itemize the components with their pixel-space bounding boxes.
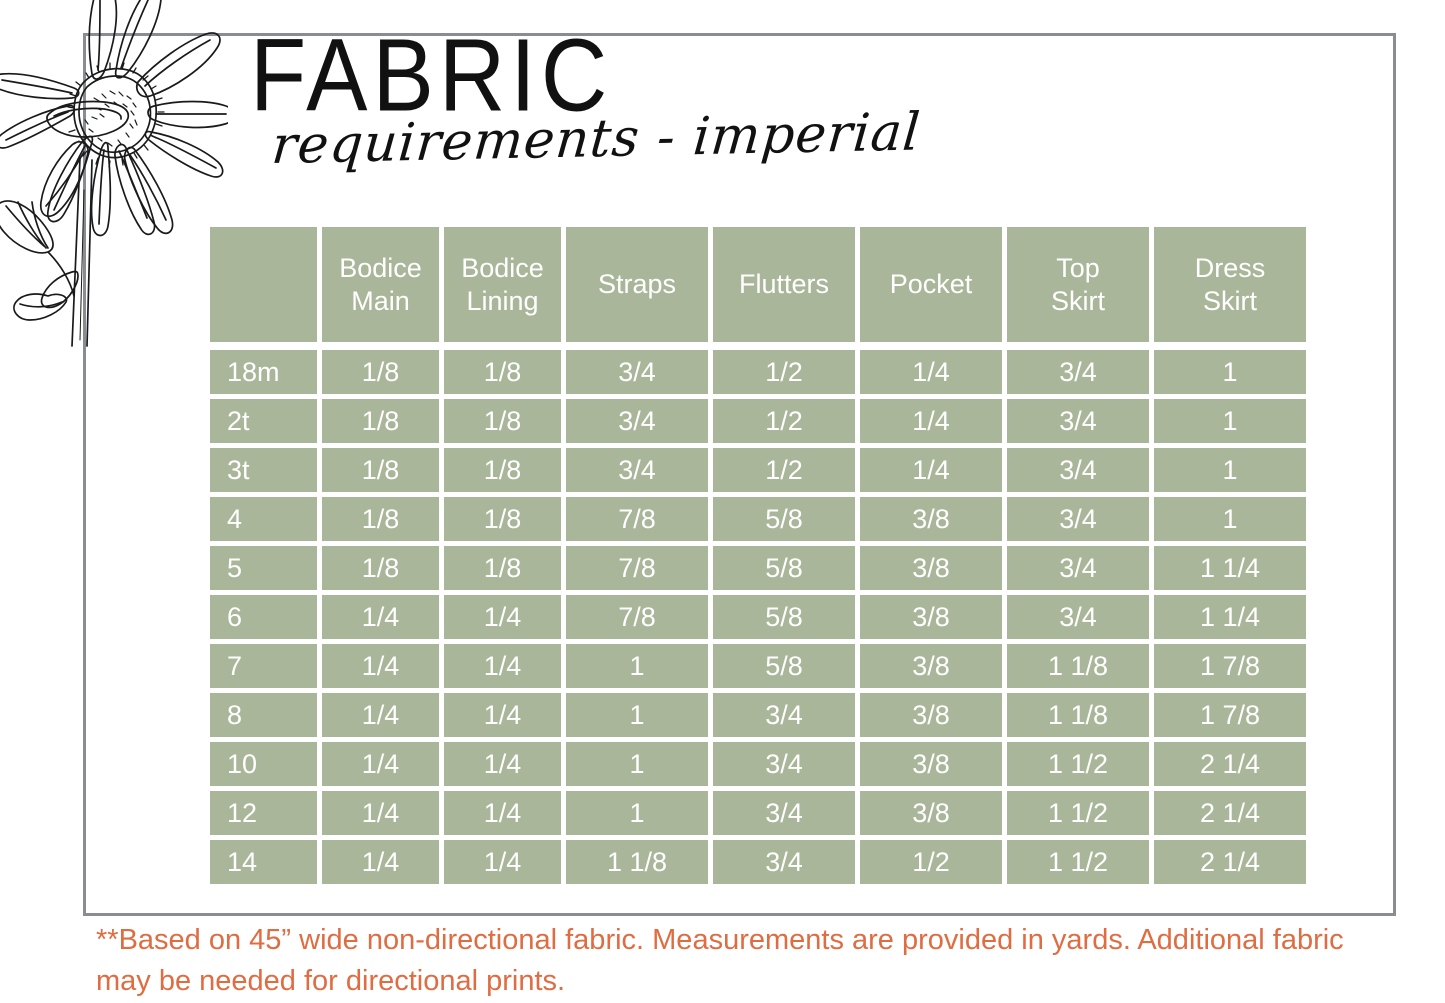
table-cell: 5/8: [713, 497, 855, 541]
table-cell: 3/4: [566, 399, 708, 443]
table-row: 2t1/81/83/41/21/43/41: [210, 399, 1336, 443]
table-cell: 3/4: [713, 791, 855, 835]
table-cell: 1/4: [444, 791, 561, 835]
table-cell: 1/4: [444, 644, 561, 688]
table-cell: 3/4: [566, 448, 708, 492]
table-cell: 1/8: [322, 448, 439, 492]
table-cell: 1 1/2: [1007, 791, 1149, 835]
table-row: 3t1/81/83/41/21/43/41: [210, 448, 1336, 492]
table-row: 41/81/87/85/83/83/41: [210, 497, 1336, 541]
table-cell: 1/4: [444, 693, 561, 737]
table-cell: 3/4: [713, 693, 855, 737]
table-cell: 2 1/4: [1154, 742, 1306, 786]
table-cell: 1/4: [444, 595, 561, 639]
table-cell: 1 1/8: [1007, 644, 1149, 688]
table-cell: 2 1/4: [1154, 791, 1306, 835]
table-cell: 3/4: [713, 840, 855, 884]
table-cell: 1 1/2: [1007, 742, 1149, 786]
table-cell: 1/4: [860, 448, 1002, 492]
table-cell: 1/8: [444, 399, 561, 443]
table-cell: 1 1/2: [1007, 840, 1149, 884]
table-cell: 1 1/8: [566, 840, 708, 884]
table-row: 101/41/413/43/81 1/22 1/4: [210, 742, 1336, 786]
table-cell: 1: [1154, 448, 1306, 492]
table-cell: 1/2: [860, 840, 1002, 884]
table-cell: 1/8: [322, 399, 439, 443]
row-size-label: 14: [210, 840, 317, 884]
table-cell: 1: [566, 693, 708, 737]
table-header-row: Bodice MainBodice LiningStrapsFluttersPo…: [210, 227, 1336, 342]
table-cell: 1: [1154, 350, 1306, 394]
table-cell: 1 1/8: [1007, 693, 1149, 737]
table-cell: 1/4: [444, 840, 561, 884]
table-row: 18m1/81/83/41/21/43/41: [210, 350, 1336, 394]
table-cell: 3/8: [860, 742, 1002, 786]
table-cell: 1/8: [444, 448, 561, 492]
page-subtitle: requirements - imperial: [270, 104, 923, 174]
table-cell: 5/8: [713, 595, 855, 639]
table-cell: 3/4: [1007, 448, 1149, 492]
table-cell: 1/8: [444, 350, 561, 394]
table-row: 141/41/41 1/83/41/21 1/22 1/4: [210, 840, 1336, 884]
row-size-label: 2t: [210, 399, 317, 443]
table-cell: 3/8: [860, 595, 1002, 639]
table-cell: 1 7/8: [1154, 693, 1306, 737]
table-row: 61/41/47/85/83/83/41 1/4: [210, 595, 1336, 639]
row-size-label: 10: [210, 742, 317, 786]
header-cell-top-skirt: Top Skirt: [1007, 227, 1149, 342]
table-cell: 1: [566, 791, 708, 835]
header-cell-dress-skirt: Dress Skirt: [1154, 227, 1306, 342]
table-cell: 1/4: [444, 742, 561, 786]
row-size-label: 8: [210, 693, 317, 737]
table-cell: 7/8: [566, 595, 708, 639]
table-cell: 3/8: [860, 497, 1002, 541]
table-cell: 1/4: [322, 791, 439, 835]
fabric-requirements-page: FABRIC requirements - imperial Bodice Ma…: [0, 0, 1445, 1003]
table-row: 121/41/413/43/81 1/22 1/4: [210, 791, 1336, 835]
table-cell: 1/8: [444, 546, 561, 590]
table-cell: 3/8: [860, 644, 1002, 688]
footnote-note: **Based on 45” wide non-directional fabr…: [96, 920, 1396, 1002]
table-cell: 1/4: [322, 595, 439, 639]
row-size-label: 7: [210, 644, 317, 688]
header-cell-bodice-main: Bodice Main: [322, 227, 439, 342]
header-cell-straps: Straps: [566, 227, 708, 342]
table-row: 51/81/87/85/83/83/41 1/4: [210, 546, 1336, 590]
table-cell: 3/4: [1007, 595, 1149, 639]
table-cell: 5/8: [713, 644, 855, 688]
table-cell: 3/4: [1007, 546, 1149, 590]
fabric-requirements-table: Bodice MainBodice LiningStrapsFluttersPo…: [210, 227, 1336, 889]
table-row: 71/41/415/83/81 1/81 7/8: [210, 644, 1336, 688]
table-cell: 1/4: [322, 693, 439, 737]
table-cell: 3/4: [566, 350, 708, 394]
table-cell: 1/8: [322, 546, 439, 590]
table-cell: 1/4: [322, 644, 439, 688]
table-cell: 1: [1154, 399, 1306, 443]
table-cell: 1/2: [713, 350, 855, 394]
header-cell-size: [210, 227, 317, 342]
table-cell: 7/8: [566, 497, 708, 541]
table-cell: 1: [566, 644, 708, 688]
table-cell: 2 1/4: [1154, 840, 1306, 884]
table-cell: 1/4: [322, 742, 439, 786]
table-cell: 1/8: [322, 497, 439, 541]
header-cell-pocket: Pocket: [860, 227, 1002, 342]
table-cell: 7/8: [566, 546, 708, 590]
header-cell-flutters: Flutters: [713, 227, 855, 342]
table-cell: 3/4: [1007, 399, 1149, 443]
table-cell: 1 1/4: [1154, 595, 1306, 639]
row-size-label: 4: [210, 497, 317, 541]
table-cell: 1 7/8: [1154, 644, 1306, 688]
table-cell: 3/4: [1007, 350, 1149, 394]
table-cell: 5/8: [713, 546, 855, 590]
table-cell: 3/4: [713, 742, 855, 786]
table-cell: 3/8: [860, 546, 1002, 590]
table-cell: 1/2: [713, 399, 855, 443]
table-row: 81/41/413/43/81 1/81 7/8: [210, 693, 1336, 737]
table-cell: 1: [1154, 497, 1306, 541]
table-cell: 1/2: [713, 448, 855, 492]
table-cell: 3/4: [1007, 497, 1149, 541]
row-size-label: 5: [210, 546, 317, 590]
row-size-label: 6: [210, 595, 317, 639]
table-cell: 3/8: [860, 791, 1002, 835]
title-block: FABRIC: [250, 22, 612, 118]
table-cell: 1: [566, 742, 708, 786]
table-cell: 1/8: [444, 497, 561, 541]
header-cell-bodice-lining: Bodice Lining: [444, 227, 561, 342]
row-size-label: 18m: [210, 350, 317, 394]
table-cell: 3/8: [860, 693, 1002, 737]
row-size-label: 3t: [210, 448, 317, 492]
table-cell: 1 1/4: [1154, 546, 1306, 590]
table-cell: 1/8: [322, 350, 439, 394]
table-cell: 1/4: [322, 840, 439, 884]
row-size-label: 12: [210, 791, 317, 835]
table-cell: 1/4: [860, 350, 1002, 394]
table-cell: 1/4: [860, 399, 1002, 443]
